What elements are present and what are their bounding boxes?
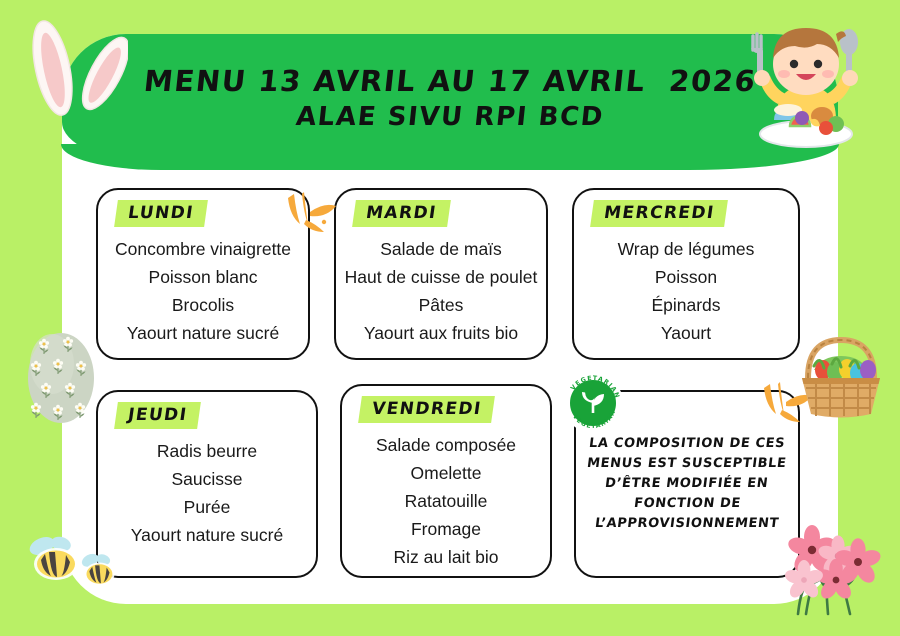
menu-item: Radis beurre [157,437,257,465]
menu-item: Saucisse [171,465,242,493]
menu-item: Yaourt aux fruits bio [364,319,518,347]
menu-item: Concombre vinaigrette [115,235,291,263]
menu-item: Yaourt [661,319,711,347]
menu-item: Poisson [655,263,717,291]
menu-items-vendredi: Salade composée Omelette Ratatouille Fro… [342,431,550,571]
disclaimer-line: FONCTION DE [632,494,741,514]
menu-item: Riz au lait bio [393,543,498,571]
menu-item: Brocolis [172,291,234,319]
menu-item: Épinards [651,291,720,319]
menu-item: Ratatouille [405,487,488,515]
day-card-lundi[interactable]: LUNDI Concombre vinaigrette Poisson blan… [96,188,310,360]
day-card-vendredi[interactable]: VENDREDI Salade composée Omelette Ratato… [340,384,552,578]
menu-item: Purée [184,493,231,521]
disclaimer-line: L’APPROVISIONNEMENT [594,514,780,534]
menu-items-mercredi: Wrap de légumes Poisson Épinards Yaourt [574,235,798,347]
menu-item: Salade composée [376,431,516,459]
menu-items-lundi: Concombre vinaigrette Poisson blanc Broc… [98,235,308,347]
menu-item: Omelette [411,459,482,487]
menu-item: Wrap de légumes [618,235,755,263]
menu-item: Poisson blanc [149,263,258,291]
menu-item: Fromage [411,515,481,543]
day-card-jeudi[interactable]: JEUDI Radis beurre Saucisse Purée Yaourt… [96,390,318,578]
disclaimer-line: D’ÊTRE MODIFIÉE EN [604,474,770,494]
day-label-vendredi: VENDREDI [358,396,495,423]
menu-item: Haut de cuisse de poulet [345,263,538,291]
menu-item: Yaourt nature sucré [131,521,283,549]
menu-item: Pâtes [419,291,464,319]
day-label-jeudi: JEUDI [114,402,201,429]
day-card-mardi[interactable]: MARDI Salade de maïs Haut de cuisse de p… [334,188,548,360]
menu-items-jeudi: Radis beurre Saucisse Purée Yaourt natur… [98,437,316,549]
day-label-lundi: LUNDI [114,200,207,227]
day-label-mardi: MARDI [352,200,450,227]
day-label-mercredi: MERCREDI [590,200,728,227]
vegetarian-badge-icon: VEGETARIAN VEGETARIAN [562,372,624,434]
day-card-mercredi[interactable]: MERCREDI Wrap de légumes Poisson Épinard… [572,188,800,360]
menu-item: Yaourt nature sucré [127,319,279,347]
disclaimer-line: LA COMPOSITION DE CES [588,434,786,454]
menu-item: Salade de maïs [380,235,502,263]
disclaimer-line: MENUS EST SUSCEPTIBLE [586,454,788,474]
title-banner [62,34,838,162]
menu-poster: MENU 13 AVRIL AU 17 AVRIL 2026 ALAE SIVU… [0,0,900,636]
menu-items-mardi: Salade de maïs Haut de cuisse de poulet … [336,235,546,347]
